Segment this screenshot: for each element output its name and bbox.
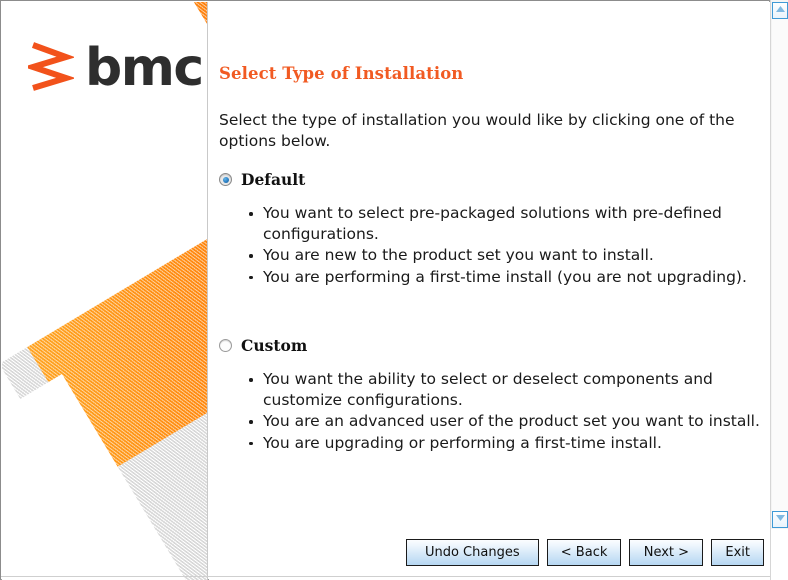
installer-window: bmc Select Type of Installation Select t… <box>0 0 788 580</box>
scroll-down-glyph <box>776 515 785 522</box>
option-custom[interactable]: Custom You want the ability to select or… <box>219 336 767 454</box>
scroll-up-glyph <box>776 6 785 13</box>
list-item: You are an advanced user of the product … <box>246 411 776 432</box>
list-item: You want the ability to select or desele… <box>246 369 776 410</box>
option-default-bullets: You want to select pre-packaged solution… <box>246 203 776 287</box>
next-button[interactable]: Next > <box>629 539 703 566</box>
option-default-label: Default <box>241 170 305 189</box>
bmc-logo: bmc <box>28 40 203 96</box>
page-title: Select Type of Installation <box>219 64 463 83</box>
window-frame: bmc Select Type of Installation Select t… <box>0 0 770 580</box>
back-button[interactable]: < Back <box>547 539 622 566</box>
list-item: You want to select pre-packaged solution… <box>246 203 776 244</box>
option-default[interactable]: Default You want to select pre-packaged … <box>219 170 767 288</box>
brand-banner: bmc <box>2 2 208 580</box>
exit-button[interactable]: Exit <box>711 539 764 566</box>
list-item: You are new to the product set you want … <box>246 245 776 266</box>
vertical-scrollbar[interactable] <box>770 0 788 580</box>
button-bar: Undo Changes < Back Next > Exit <box>1 537 770 567</box>
scroll-up-arrow-icon[interactable] <box>772 2 788 19</box>
scroll-down-arrow-icon[interactable] <box>772 511 788 528</box>
option-custom-header[interactable]: Custom <box>219 336 767 355</box>
list-item: You are upgrading or performing a first-… <box>246 433 776 454</box>
bmc-logo-mark-icon <box>28 40 74 96</box>
radio-default[interactable] <box>219 173 232 186</box>
content-pane: Select Type of Installation Select the t… <box>209 2 770 580</box>
option-custom-bullets: You want the ability to select or desele… <box>246 369 776 453</box>
option-default-header[interactable]: Default <box>219 170 767 189</box>
intro-text: Select the type of installation you woul… <box>219 110 774 151</box>
footer-divider <box>1 576 771 577</box>
scrollbar-track[interactable] <box>772 19 788 511</box>
bmc-wordmark: bmc <box>85 42 203 94</box>
undo-changes-button[interactable]: Undo Changes <box>406 539 539 566</box>
option-custom-label: Custom <box>241 336 307 355</box>
scrollbar-tail <box>771 529 788 580</box>
list-item: You are performing a first-time install … <box>246 267 776 288</box>
radio-custom[interactable] <box>219 339 232 352</box>
